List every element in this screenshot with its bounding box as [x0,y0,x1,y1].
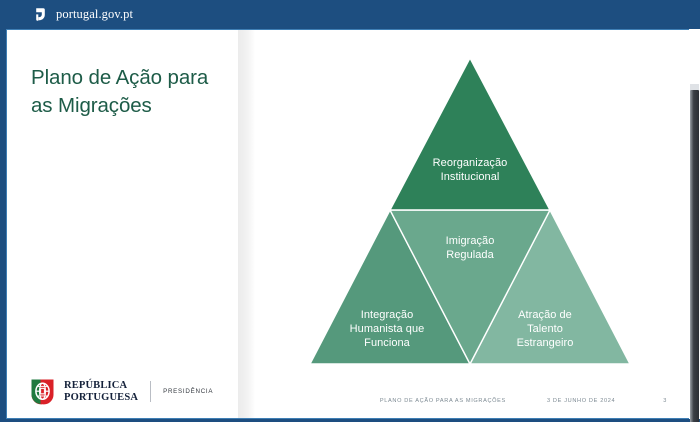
portugal-leaf-logo-icon [33,7,48,22]
department-label: PRESIDÊNCIA [163,388,213,395]
pyramid-segment-top[interactable] [390,58,550,210]
presentation-window: portugal.gov.pt Plano de Ação para as Mi… [0,0,700,422]
segment-bottom-right-label-line2: Talento [527,323,563,335]
slide-canvas: Plano de Ação para as Migrações [7,30,681,418]
page-title: Plano de Ação para as Migrações [31,64,231,121]
segment-middle-label-line1: Imigração [446,235,495,247]
vertical-scrollbar-thumb[interactable] [690,90,699,422]
site-brand[interactable]: portugal.gov.pt [33,7,133,22]
slide-content-panel: Reorganização Institucional Imigração Re… [255,30,681,418]
pyramid-diagram: Reorganização Institucional Imigração Re… [305,48,635,378]
brand-label: portugal.gov.pt [56,7,133,22]
segment-middle-label-line2: Regulada [446,249,494,261]
segment-bottom-right-label-line1: Atração de [518,309,572,321]
segment-bottom-right-label-line3: Estrangeiro [517,337,574,349]
segment-top-label-line2: Institucional [441,171,500,183]
republica-portuguesa-label: REPÚBLICA PORTUGUESA [64,380,138,402]
segment-bottom-left-label-line3: Funciona [364,337,410,349]
slide-viewport: Plano de Ação para as Migrações [6,29,694,419]
segment-bottom-left-label-line2: Humanista que [350,323,425,335]
footer-document-title: PLANO DE AÇÃO PARA AS MIGRAÇÕES [380,398,506,404]
footer-page-number: 3 [663,398,667,404]
republica-line-2: PORTUGUESA [64,392,138,403]
top-navigation-bar: portugal.gov.pt [0,0,700,29]
migration-action-plan-pyramid: Reorganização Institucional Imigração Re… [305,48,635,378]
vertical-scrollbar-track[interactable] [689,29,700,419]
segment-bottom-left-label-line1: Integração [361,309,413,321]
slide-title-panel: Plano de Ação para as Migrações [7,30,238,418]
republica-portuguesa-logo: REPÚBLICA PORTUGUESA PRESIDÊNCIA [30,378,213,405]
panel-divider [238,30,255,418]
logo-divider [150,381,151,402]
footer-date: 3 DE JUNHO DE 2024 [547,398,615,404]
portuguese-coat-of-arms-shield-icon [30,378,55,405]
republica-line-1: REPÚBLICA [64,380,127,391]
segment-top-label-line1: Reorganização [433,157,508,169]
slide-footer: PLANO DE AÇÃO PARA AS MIGRAÇÕES 3 DE JUN… [380,398,667,404]
